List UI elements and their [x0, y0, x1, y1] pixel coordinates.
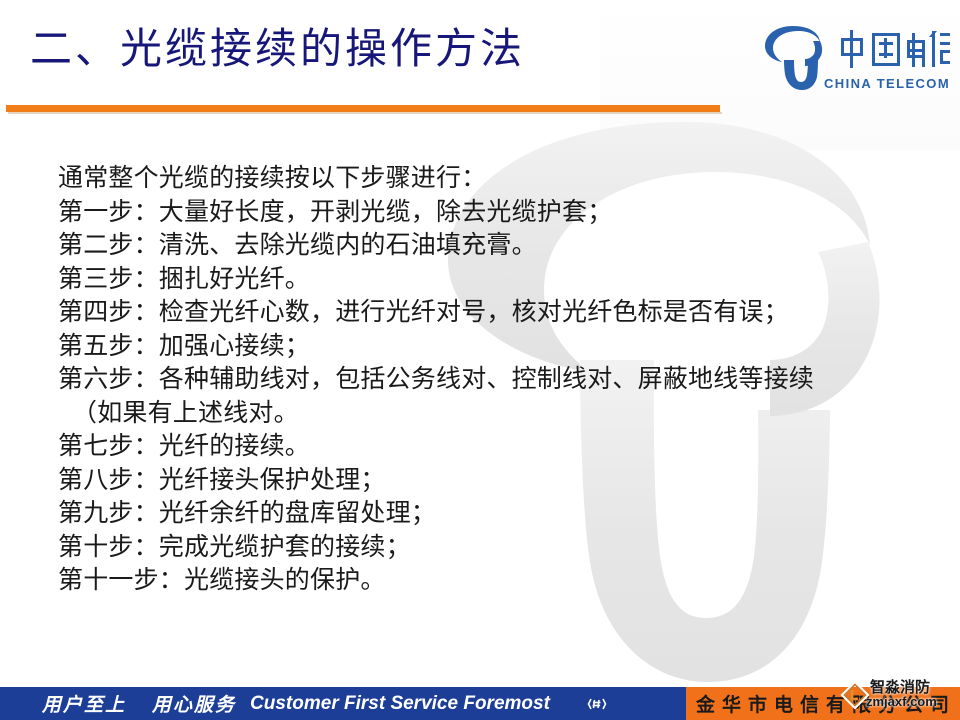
body-line: 第四步：检查光纤心数，进行光纤对号，核对光纤色标是否有误；	[58, 296, 938, 330]
body-line: 第六步：各种辅助线对，包括公务线对、控制线对、屏蔽地线等接续	[58, 363, 938, 397]
telecom-mark-icon	[586, 693, 608, 715]
footer-slogan-en: Customer First Service Foremost	[250, 693, 550, 715]
body-line: 第十一步：光缆接头的保护。	[58, 564, 938, 598]
presentation-slide: 二、光缆接续的操作方法 CHINA TELECOM 通常整个光缆的接续	[0, 0, 960, 720]
logo-en-text: CHINA TELECOM	[824, 76, 950, 91]
body-line: 第一步：大量好长度，开剥光缆，除去光缆护套；	[58, 196, 938, 230]
body-line: 第十步：完成光缆护套的接续；	[58, 531, 938, 565]
body-line: 通常整个光缆的接续按以下步骤进行：	[58, 162, 938, 196]
body-line: （如果有上述线对。	[58, 397, 938, 431]
slide-footer: 用户至上 用心服务 Customer First Service Foremos…	[0, 687, 960, 720]
footer-org-bar: 金华市电信有限分公司	[686, 687, 960, 720]
body-line: 第九步：光纤余纤的盘库留处理；	[58, 497, 938, 531]
china-telecom-logo: CHINA TELECOM	[762, 20, 950, 92]
footer-slogan-bar: 用户至上 用心服务 Customer First Service Foremos…	[0, 687, 686, 720]
slide-body: 通常整个光缆的接续按以下步骤进行： 第一步：大量好长度，开剥光缆，除去光缆护套；…	[58, 162, 938, 598]
body-line: 第七步：光纤的接续。	[58, 430, 938, 464]
body-line: 第五步：加强心接续；	[58, 330, 938, 364]
title-divider	[6, 105, 720, 112]
title-rule-shadow	[8, 112, 722, 114]
footer-slogan-cn-2: 用心服务	[152, 690, 236, 717]
body-line: 第八步：光纤接头保护处理；	[58, 464, 938, 498]
page-title: 二、光缆接续的操作方法	[30, 24, 525, 76]
footer-slogan-cn-1: 用户至上	[42, 690, 126, 717]
body-line: 第三步：捆扎好光纤。	[58, 263, 938, 297]
body-line: 第二步：清洗、去除光缆内的石油填充膏。	[58, 229, 938, 263]
footer-org-name: 金华市电信有限分公司	[690, 690, 956, 717]
